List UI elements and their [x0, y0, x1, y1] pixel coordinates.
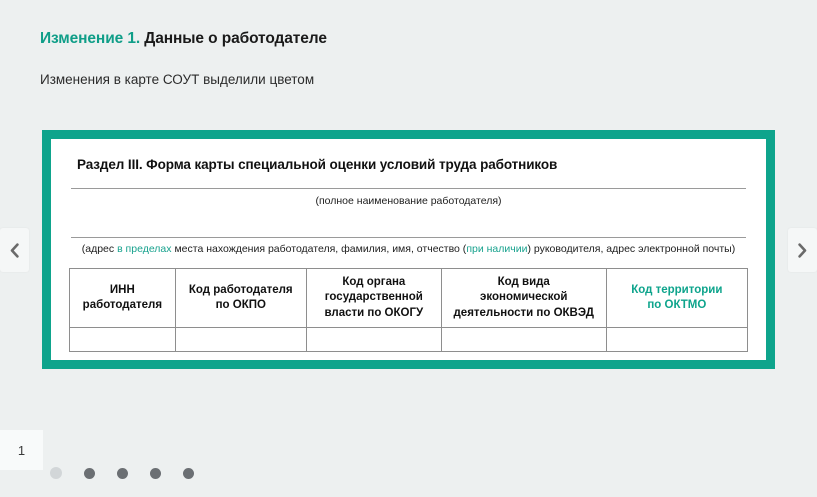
next-slide-button[interactable] — [788, 228, 817, 272]
caption-address: (адрес в пределах места нахождения работ… — [69, 243, 748, 255]
pagination-dots — [50, 467, 194, 479]
table-cell-okpo — [175, 328, 306, 352]
caption-address-part3: ) руководителя, адрес электронной почты) — [527, 243, 735, 255]
table-cell-okogu — [306, 328, 441, 352]
pagination-dot-4[interactable] — [150, 468, 161, 479]
employer-data-table: ИННработодателя Код работодателяпо ОКПО … — [69, 268, 748, 352]
pagination-dot-1[interactable] — [50, 467, 62, 479]
table-row — [70, 328, 748, 352]
page-title: Изменение 1. Данные о работодателе — [40, 30, 327, 48]
pagination-dot-3[interactable] — [117, 468, 128, 479]
page-subtitle: Изменения в карте СОУТ выделили цветом — [40, 72, 314, 87]
table-header-inn: ИННработодателя — [70, 269, 176, 328]
chevron-right-icon — [797, 243, 808, 258]
document-section-title: Раздел III. Форма карты специальной оцен… — [77, 157, 748, 172]
document-highlight-frame: Раздел III. Форма карты специальной оцен… — [42, 130, 775, 369]
table-header-oktmo: Код территориипо ОКТМО — [606, 269, 747, 328]
table-cell-inn — [70, 328, 176, 352]
table-cell-okved — [441, 328, 606, 352]
pagination-dot-2[interactable] — [84, 468, 95, 479]
chevron-left-icon — [9, 243, 20, 258]
table-header-row: ИННработодателя Код работодателяпо ОКПО … — [70, 269, 748, 328]
table-cell-oktmo — [606, 328, 747, 352]
caption-address-accent2: при наличии — [466, 243, 527, 255]
prev-slide-button[interactable] — [0, 228, 29, 272]
divider-address — [71, 237, 746, 238]
page-title-accent: Изменение 1. — [40, 30, 140, 47]
page-title-rest: Данные о работодателе — [140, 30, 327, 47]
table-header-okved: Код видаэкономическойдеятельности по ОКВ… — [441, 269, 606, 328]
caption-address-part2: места нахождения работодателя, фамилия, … — [172, 243, 467, 255]
table-header-okogu: Код органагосударственнойвласти по ОКОГУ — [306, 269, 441, 328]
caption-address-accent1: в пределах — [117, 243, 171, 255]
table-header-okpo: Код работодателяпо ОКПО — [175, 269, 306, 328]
divider-employer-name — [71, 188, 746, 189]
caption-employer-name: (полное наименование работодателя) — [69, 195, 748, 207]
pagination-dot-5[interactable] — [183, 468, 194, 479]
caption-address-part1: (адрес — [82, 243, 117, 255]
document-page: Раздел III. Форма карты специальной оцен… — [51, 139, 766, 360]
page-number-badge: 1 — [0, 430, 43, 470]
